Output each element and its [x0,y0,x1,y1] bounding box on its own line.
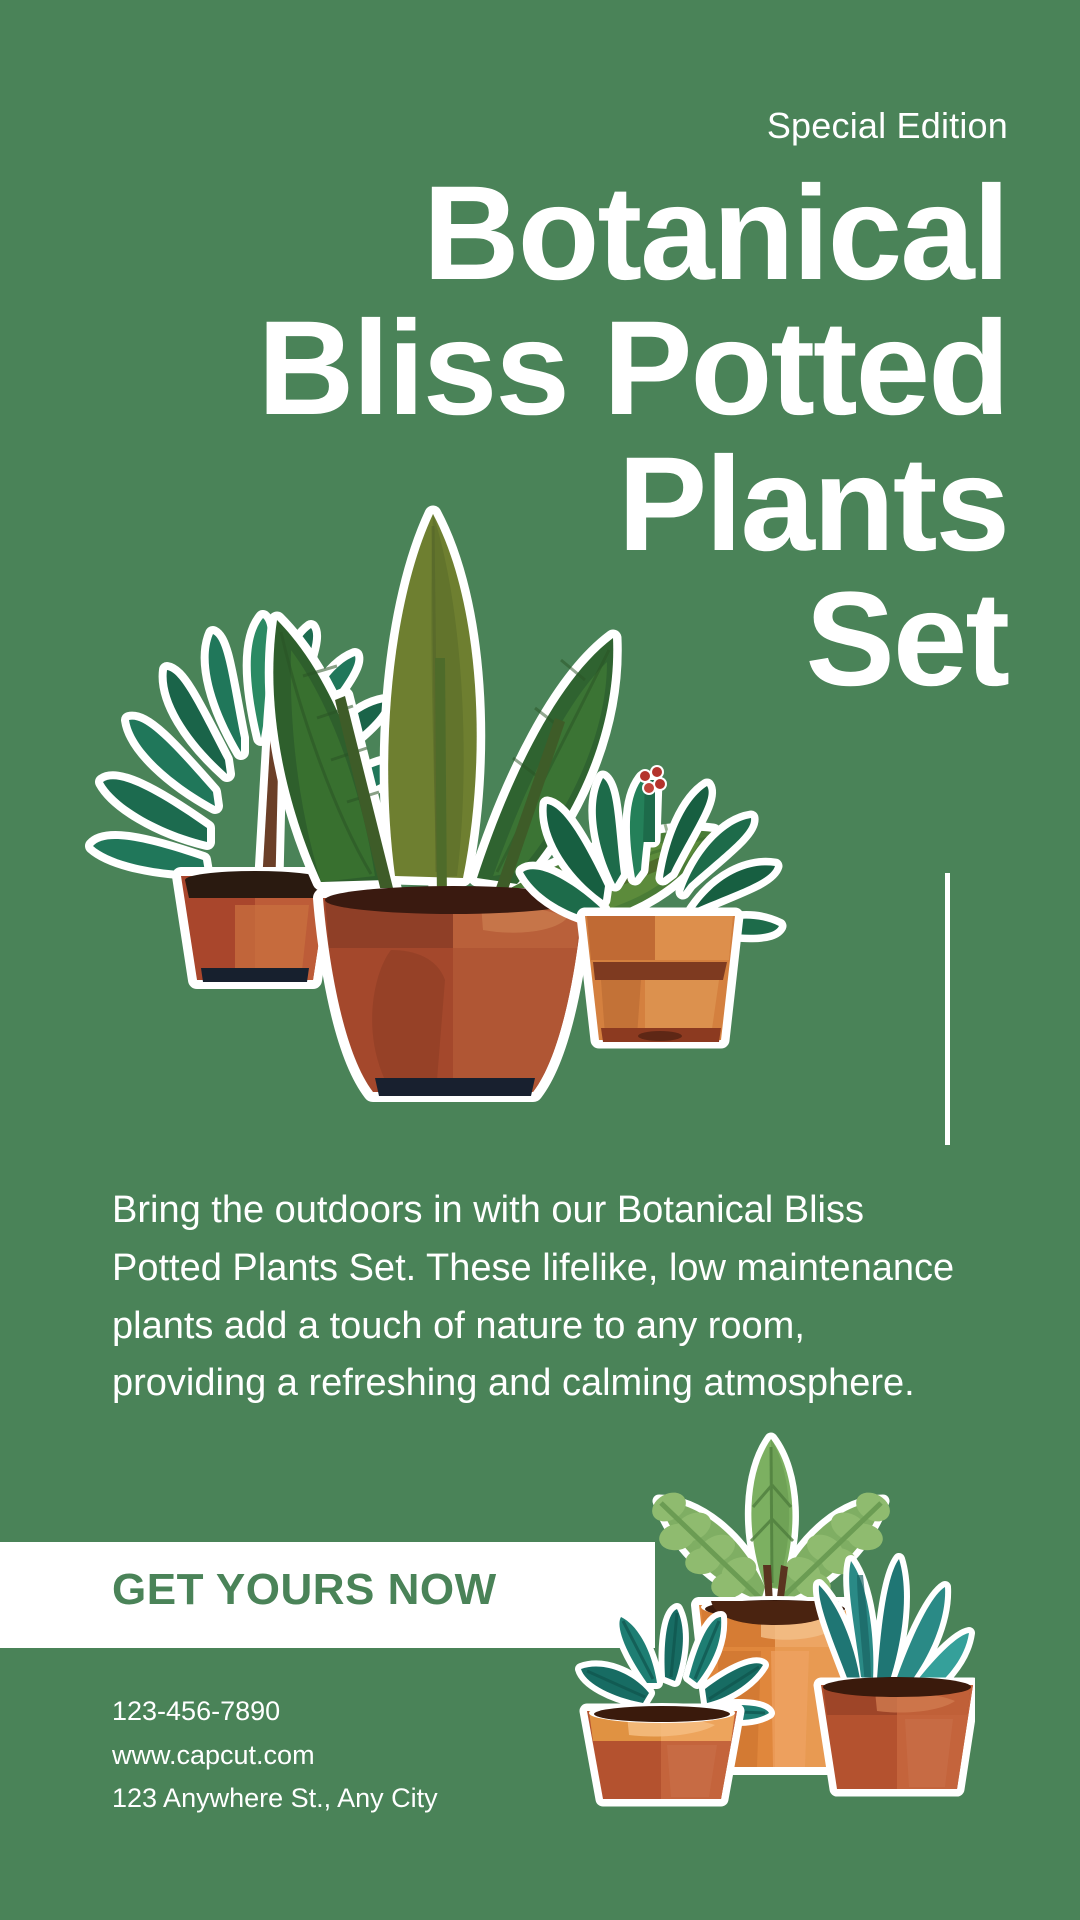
vertical-divider [945,873,950,1145]
cta-label[interactable]: GET YOURS NOW [112,1568,497,1612]
three-small-potted-plants-illustration [565,1415,975,1815]
title-line-2: Bliss Potted [0,305,1008,432]
contact-address: 123 Anywhere St., Any City [112,1777,438,1821]
eyebrow-label: Special Edition [767,108,1008,144]
contact-info: 123-456-7890 www.capcut.com 123 Anywhere… [112,1690,438,1821]
contact-phone[interactable]: 123-456-7890 [112,1690,438,1734]
agave-spike-plant [819,1559,973,1789]
poster-canvas: Special Edition Botanical Bliss Potted P… [0,0,1080,1920]
three-potted-plants-illustration: .ol { stroke:#ffffff; stroke-width:13; s… [85,480,805,1160]
title-line-1: Botanical [0,170,1008,297]
body-paragraph: Bring the outdoors in with our Botanical… [112,1182,962,1413]
contact-website[interactable]: www.capcut.com [112,1734,438,1778]
